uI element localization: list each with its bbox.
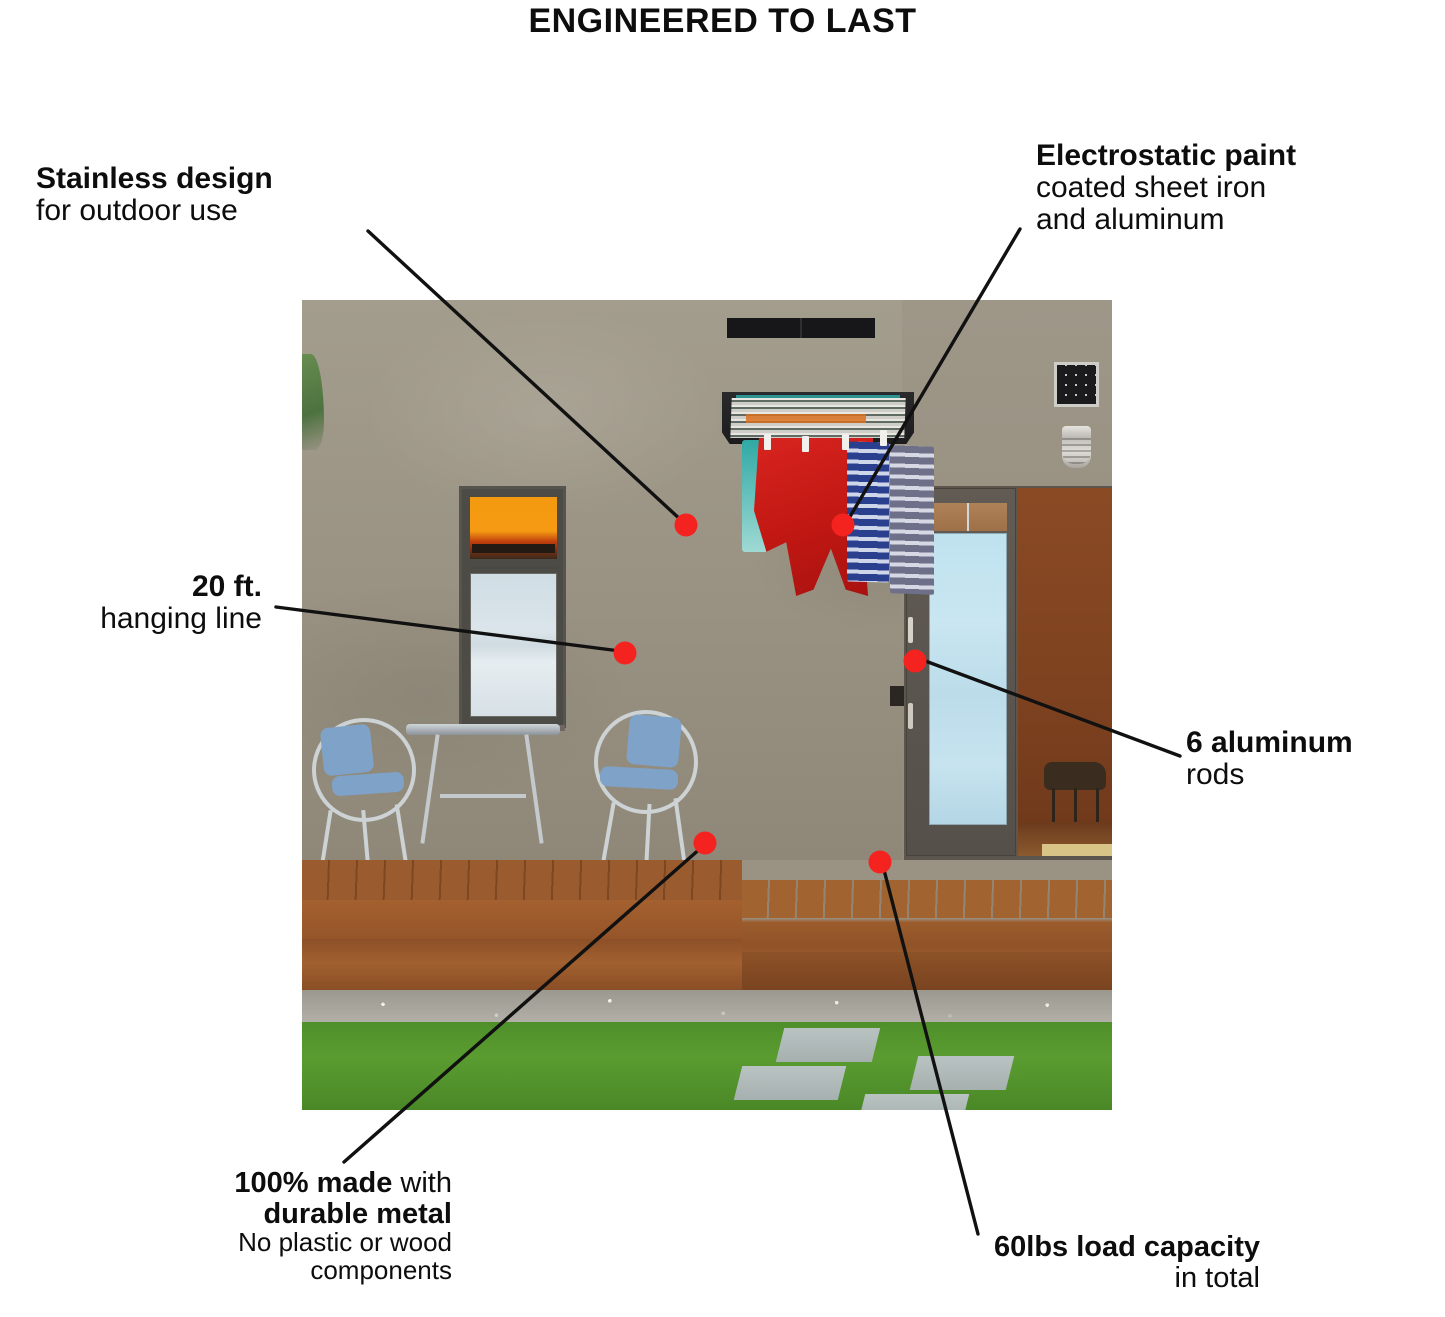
stepping-stone [776,1028,880,1062]
stepping-stone [910,1056,1014,1090]
hotspot-dot-electrostatic-paint[interactable] [832,514,855,537]
door-handle [908,617,913,643]
callout-durable-metal-reg1: with [400,1167,452,1199]
chair-back-cushion [626,714,682,768]
door-transom-pane [929,503,1007,531]
callout-stainless-design-title: Stainless design [36,163,456,195]
laundry-grey-striped [890,445,934,595]
patio-table [406,724,560,846]
interior-chair [1044,756,1110,822]
callout-durable-metal-bold1: 100% made [234,1167,392,1199]
exterior-window [459,486,566,728]
door-lock [908,703,913,729]
deck-upper-boards [302,860,742,900]
callout-hanging-line: 20 ft. hanging line [0,571,262,635]
callout-stainless-design: Stainless design for outdoor use [36,163,456,227]
table-leg [524,734,543,843]
laundry-blue-striped [847,441,889,582]
hotspot-dot-hanging-line[interactable] [614,642,637,665]
callout-durable-metal-line1: 100% made with [40,1168,452,1199]
chair-seat-cushion [600,766,679,790]
stepping-stone [734,1066,846,1100]
deck-riser [742,952,1112,990]
callout-load-capacity: 60lbs load capacity in total [780,1232,1260,1293]
interior-chair-leg [1074,788,1077,822]
product-photo [302,300,1112,1110]
interior-room [1018,488,1112,856]
hotspot-dot-load-capacity[interactable] [869,851,892,874]
callout-aluminum-rods: 6 aluminum rods [1186,727,1445,791]
stepping-stone [859,1094,969,1110]
table-rail [440,794,526,798]
intercom-panel [890,686,904,706]
wall-light-fixture [1062,426,1091,468]
gravel-strip [302,990,1112,1026]
callout-durable-metal-line3: No plastic or wood [40,1229,452,1257]
clothes-peg [764,434,771,450]
interior-chair-leg [1052,788,1055,822]
callout-electrostatic-paint-sub1: coated sheet iron [1036,172,1445,204]
callout-electrostatic-paint: Electrostatic paint coated sheet iron an… [1036,140,1445,235]
callout-load-capacity-title: 60lbs load capacity [780,1232,1260,1263]
callout-durable-metal-line4: components [40,1257,452,1285]
deck-front-face [302,900,742,990]
hotspot-dot-aluminum-rods[interactable] [904,650,927,673]
wall-vent-icon [1054,362,1099,407]
callout-stainless-design-sub: for outdoor use [36,195,456,227]
callout-durable-metal-line2: durable metal [40,1199,452,1230]
window-divider [470,567,557,569]
callout-load-capacity-sub: in total [780,1263,1260,1294]
rack-towel-orange [746,414,866,423]
deck-step-boards [742,880,1112,918]
table-top [406,724,560,735]
callout-aluminum-rods-sub: rods [1186,759,1445,791]
window-upper-pane [470,497,557,559]
clothes-peg [842,434,849,450]
window-frosted-pane [470,573,557,717]
clothes-peg [802,436,809,452]
door-frosted-glass [929,533,1007,825]
callout-electrostatic-paint-title: Electrostatic paint [1036,140,1445,172]
callout-aluminum-rods-title: 6 aluminum [1186,727,1445,759]
callout-electrostatic-paint-sub2: and aluminum [1036,204,1445,236]
callout-hanging-line-title: 20 ft. [0,571,262,603]
interior-door-mat [1042,844,1112,856]
page-title: ENGINEERED TO LAST [0,2,1445,41]
hotspot-dot-durable-metal[interactable] [694,832,717,855]
hotspot-dot-stainless-design[interactable] [675,514,698,537]
interior-chair-leg [1096,788,1099,822]
lawn [302,1022,1112,1110]
wall-bracket [727,318,875,338]
callout-hanging-line-sub: hanging line [0,603,262,635]
interior-chair-seat [1044,762,1106,790]
clothes-peg [880,430,887,446]
table-leg [420,734,439,843]
callout-durable-metal: 100% made with durable metal No plastic … [40,1168,452,1285]
chair-back-cushion [320,724,375,777]
